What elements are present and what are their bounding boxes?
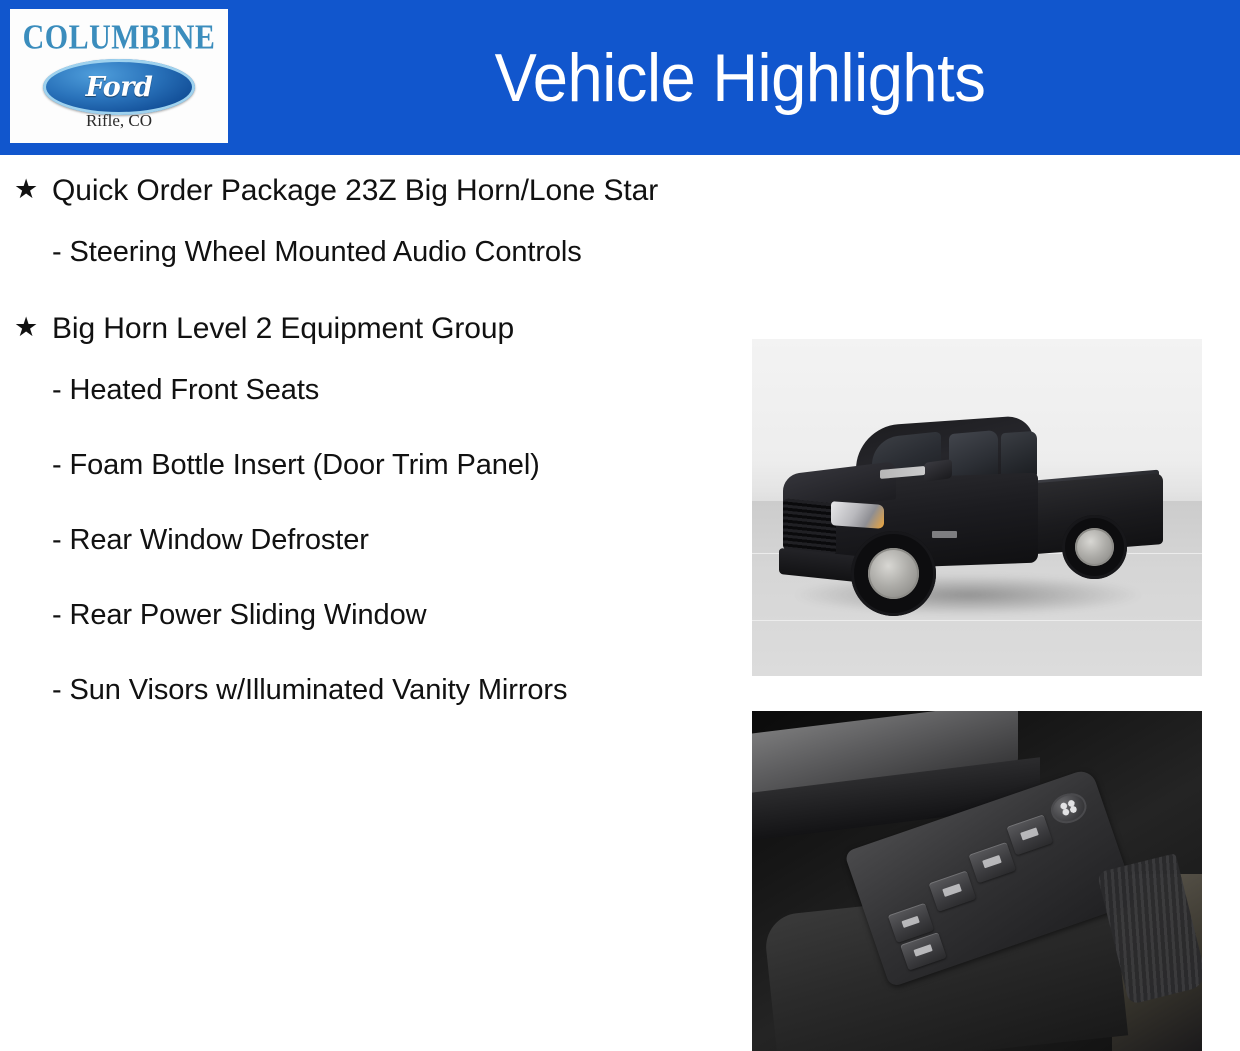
list-item: - Rear Power Sliding Window bbox=[14, 597, 714, 634]
list-item-label: - Heated Front Seats bbox=[52, 372, 319, 409]
list-item-label: - Sun Visors w/Illuminated Vanity Mirror… bbox=[52, 672, 567, 709]
list-item: - Steering Wheel Mounted Audio Controls bbox=[14, 234, 714, 271]
list-item-label: - Steering Wheel Mounted Audio Controls bbox=[52, 234, 582, 271]
dealer-location-text: Rifle, CO bbox=[10, 111, 228, 131]
page-title: Vehicle Highlights bbox=[275, 0, 1205, 155]
truck-side-mirror bbox=[924, 459, 952, 482]
ford-oval-icon: Ford bbox=[43, 59, 195, 115]
list-item: ★ Big Horn Level 2 Equipment Group bbox=[14, 310, 714, 348]
mirror-control-knob bbox=[1047, 789, 1091, 828]
truck-front-rim bbox=[868, 548, 919, 599]
window-switch-rear-right bbox=[1006, 814, 1053, 855]
truck-graphic bbox=[775, 406, 1180, 642]
truck-front-wheel bbox=[851, 531, 936, 616]
slide-content: ★ Quick Order Package 23Z Big Horn/Lone … bbox=[0, 155, 1240, 930]
list-item-label: Quick Order Package 23Z Big Horn/Lone St… bbox=[52, 172, 658, 210]
star-icon: ★ bbox=[14, 310, 52, 345]
ford-brand-text: Ford bbox=[86, 72, 153, 103]
list-item-label: - Foam Bottle Insert (Door Trim Panel) bbox=[52, 447, 540, 484]
list-item: - Foam Bottle Insert (Door Trim Panel) bbox=[14, 447, 714, 484]
window-switch-front-left bbox=[929, 871, 976, 912]
star-icon: ★ bbox=[14, 172, 52, 207]
list-item: - Rear Window Defroster bbox=[14, 522, 714, 559]
truck-grille bbox=[783, 498, 836, 555]
exterior-truck-photo bbox=[752, 339, 1202, 676]
dealer-logo: COLUMBINE Ford Rifle, CO bbox=[10, 9, 228, 143]
truck-rear-wheel bbox=[1062, 515, 1127, 579]
truck-rear-rim bbox=[1075, 528, 1114, 566]
dealer-name-text: COLUMBINE bbox=[10, 20, 228, 55]
list-item: - Heated Front Seats bbox=[14, 372, 714, 409]
list-item-label: - Rear Power Sliding Window bbox=[52, 597, 426, 634]
list-item: - Sun Visors w/Illuminated Vanity Mirror… bbox=[14, 672, 714, 709]
list-item-label: - Rear Window Defroster bbox=[52, 522, 369, 559]
interior-door-panel-photo bbox=[752, 711, 1202, 1051]
slide: COLUMBINE Ford Rifle, CO Vehicle Highlig… bbox=[0, 0, 1240, 930]
highlights-list: ★ Quick Order Package 23Z Big Horn/Lone … bbox=[14, 172, 714, 747]
window-switch-rear-left bbox=[969, 842, 1016, 883]
list-item-label: Big Horn Level 2 Equipment Group bbox=[52, 310, 514, 348]
logo-inner: COLUMBINE Ford Rifle, CO bbox=[10, 9, 228, 143]
truck-headlight bbox=[831, 501, 884, 528]
truck-ram-badge bbox=[932, 531, 956, 538]
list-item: ★ Quick Order Package 23Z Big Horn/Lone … bbox=[14, 172, 714, 210]
